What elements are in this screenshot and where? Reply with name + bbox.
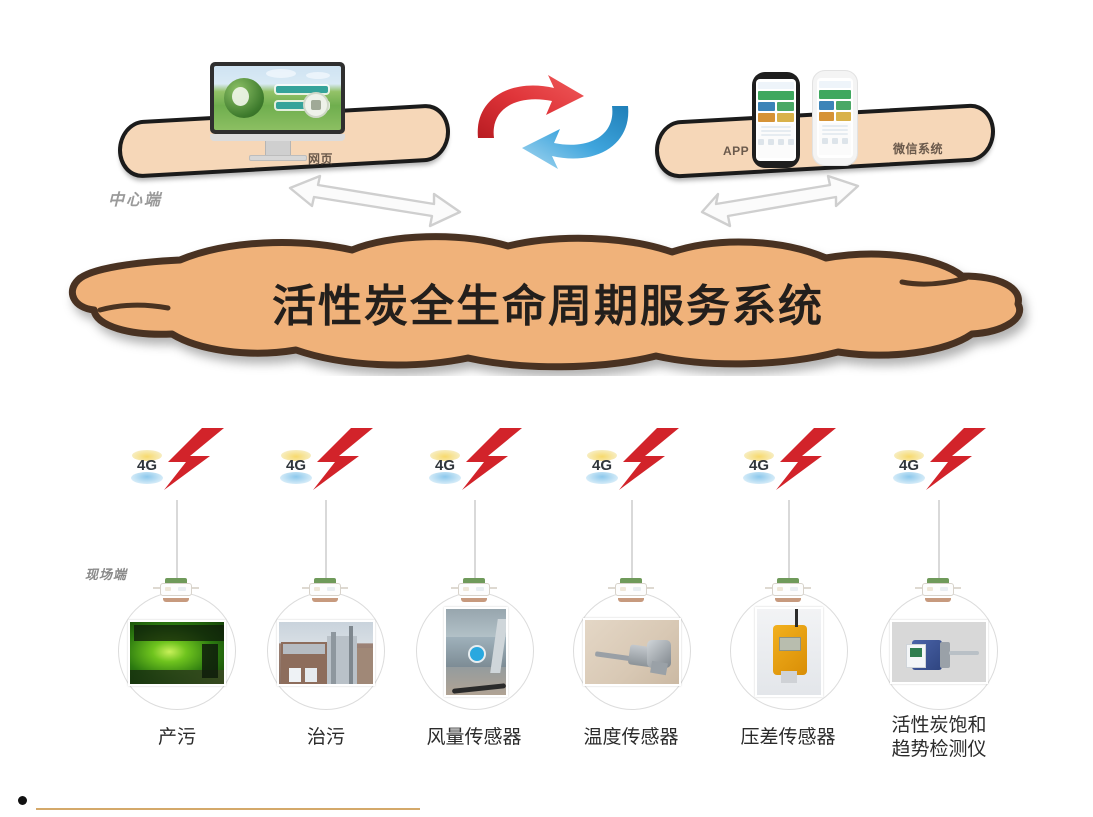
lightning-bolt-icon	[774, 428, 840, 497]
smartphone-ghost-icon[interactable]	[812, 70, 858, 166]
phone-screen	[817, 78, 853, 158]
connector-line-saturation	[938, 500, 940, 578]
yellow-pressure-sensor-photo	[755, 607, 823, 697]
phone-frame	[752, 72, 800, 168]
radio-node-zhiwu: 4G	[277, 428, 377, 492]
diagram-canvas: 中心端 网页 APP 微信系统	[0, 0, 1093, 817]
sensor-label-saturation: 活性炭饱和 趋势检测仪	[876, 714, 1002, 762]
footer-bullet	[18, 796, 27, 805]
connector-line-temperature	[631, 500, 633, 578]
smartphone-icon[interactable]	[752, 72, 800, 168]
photo-circle-temperature[interactable]	[573, 592, 691, 710]
sensor-label-airflow: 风量传感器	[413, 726, 535, 750]
photo-circle-airflow[interactable]	[416, 592, 534, 710]
photo-circle-pressure[interactable]	[730, 592, 848, 710]
gateway-device-icon-temperature	[613, 578, 649, 602]
phone-status-bar	[758, 82, 794, 89]
green-industrial-machine-photo	[128, 620, 226, 686]
duct-airflow-sensor-photo	[444, 607, 508, 697]
radio-node-chanwu: 4G	[128, 428, 228, 492]
connector-line-zhiwu	[325, 500, 327, 578]
platform-label-app: APP	[723, 144, 749, 158]
monitor-bezel	[210, 62, 345, 134]
monitor-neck	[265, 141, 291, 155]
phone-nav-dots	[819, 138, 851, 144]
desktop-monitor-icon[interactable]	[210, 62, 345, 161]
lightning-bolt-icon	[617, 428, 683, 497]
lightning-bolt-icon	[460, 428, 526, 497]
lightning-bolt-icon	[924, 428, 990, 497]
globe-graphic	[224, 78, 264, 118]
phone-card-blue	[819, 101, 851, 110]
phone-content-area	[819, 123, 851, 155]
sensor-label-temperature: 温度传感器	[570, 726, 692, 750]
monitor-foot	[249, 155, 307, 161]
4g-badge-icon: 4G	[583, 446, 621, 486]
gateway-device-icon-chanwu	[158, 578, 194, 602]
sensor-label-zhiwu: 治污	[265, 726, 387, 750]
system-cloud-banner: 活性炭全生命周期服务系统	[60, 232, 1040, 376]
system-title: 活性炭全生命周期服务系统	[272, 270, 824, 334]
phone-screen	[756, 79, 796, 161]
center-tier-label: 中心端	[108, 186, 162, 210]
center-to-cloud-arrow-left	[284, 174, 464, 230]
seal-badge-icon	[303, 92, 329, 118]
phone-content-area	[758, 124, 794, 158]
gateway-device-icon-pressure	[770, 578, 806, 602]
photo-circle-chanwu[interactable]	[118, 592, 236, 710]
connector-line-chanwu	[176, 500, 178, 578]
phone-frame	[812, 70, 858, 166]
connector-line-airflow	[474, 500, 476, 578]
temperature-probe-photo	[583, 618, 681, 686]
4g-badge-icon: 4G	[277, 446, 315, 486]
radio-node-temperature: 4G	[583, 428, 683, 492]
gateway-device-icon-saturation	[920, 578, 956, 602]
field-tier-label: 现场端	[85, 564, 127, 583]
4g-badge-icon: 4G	[740, 446, 778, 486]
center-to-cloud-arrow-right	[700, 174, 860, 230]
sensor-label-chanwu: 产污	[116, 726, 238, 750]
radio-node-pressure: 4G	[740, 428, 840, 492]
lightning-bolt-icon	[162, 428, 228, 497]
phone-card-amber	[758, 113, 794, 122]
phone-card-blue	[758, 102, 794, 111]
circular-sync-arrows-icon	[468, 72, 640, 172]
treatment-plant-building-photo	[277, 620, 375, 686]
footer-divider	[36, 808, 420, 810]
phone-card-amber	[819, 112, 851, 121]
monitor-screen	[214, 66, 341, 130]
monitor-chin	[210, 134, 345, 141]
phone-status-bar	[819, 81, 851, 88]
platform-label-wechat: 微信系统	[893, 140, 943, 157]
phone-nav-dots	[758, 139, 794, 145]
phone-card-green	[758, 91, 794, 100]
radio-node-saturation: 4G	[890, 428, 990, 492]
lightning-bolt-icon	[311, 428, 377, 497]
4g-badge-icon: 4G	[128, 446, 166, 486]
blue-saturation-detector-photo	[890, 620, 988, 684]
photo-circle-zhiwu[interactable]	[267, 592, 385, 710]
gateway-device-icon-airflow	[456, 578, 492, 602]
radio-node-airflow: 4G	[426, 428, 526, 492]
sensor-label-pressure: 压差传感器	[727, 726, 849, 750]
phone-card-green	[819, 90, 851, 99]
gateway-device-icon-zhiwu	[307, 578, 343, 602]
4g-badge-icon: 4G	[426, 446, 464, 486]
photo-circle-saturation[interactable]	[880, 592, 998, 710]
connector-line-pressure	[788, 500, 790, 578]
4g-badge-icon: 4G	[890, 446, 928, 486]
